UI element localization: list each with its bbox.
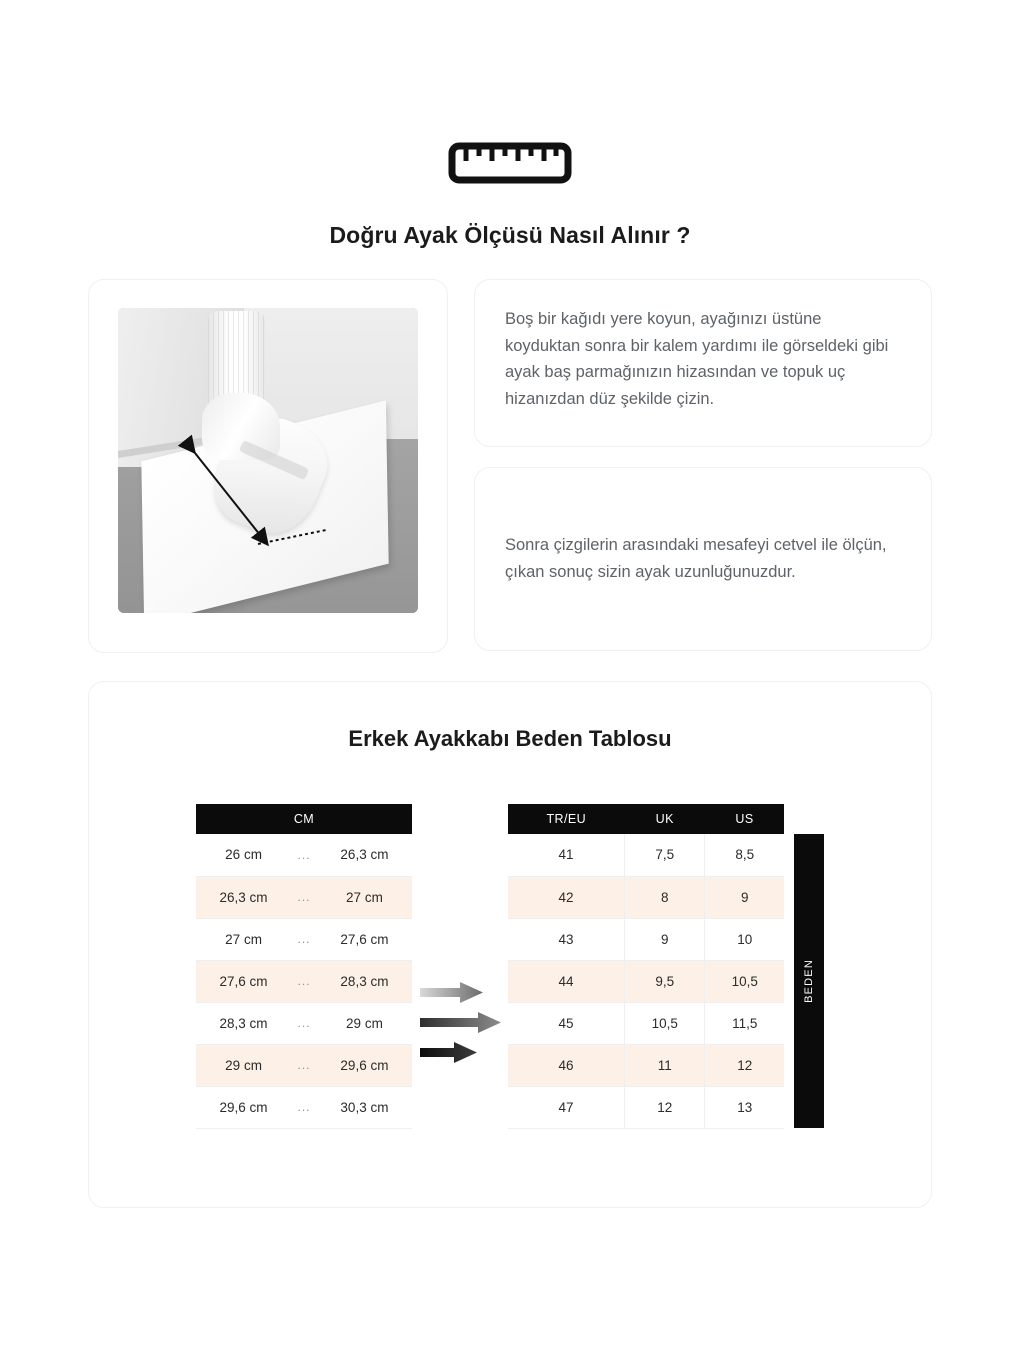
arrow-right-icon: [420, 1012, 502, 1033]
size-us: 12: [705, 1044, 784, 1086]
cm-header-cell: CM: [196, 804, 412, 834]
ruler-icon: [448, 141, 572, 185]
size-treu: 41: [508, 834, 625, 876]
table-row: 26 cm ... 26,3 cm: [196, 834, 412, 876]
table-row: 45 10,5 11,5: [508, 1002, 784, 1044]
size-table: TR/EU UK US 41 7,5 8,5 42 8 9 43: [508, 804, 784, 1129]
cm-header-row: CM: [196, 804, 412, 834]
size-uk: 9,5: [625, 960, 705, 1002]
cm-dots: ...: [291, 918, 317, 960]
cm-from: 29 cm: [196, 1044, 291, 1086]
size-treu: 43: [508, 918, 625, 960]
cm-table: CM 26 cm ... 26,3 cm 26,3 cm ... 27 cm 2…: [196, 804, 412, 1129]
instruction-column: Boş bir kağıdı yere koyun, ayağınızı üst…: [474, 279, 932, 651]
size-treu: 47: [508, 1086, 625, 1128]
size-treu: 46: [508, 1044, 625, 1086]
size-uk: 8: [625, 876, 705, 918]
size-uk: 11: [625, 1044, 705, 1086]
size-uk: 12: [625, 1086, 705, 1128]
cm-to: 26,3 cm: [317, 834, 412, 876]
table-row: 43 9 10: [508, 918, 784, 960]
table-row: 26,3 cm ... 27 cm: [196, 876, 412, 918]
size-table-card: Erkek Ayakkabı Beden Tablosu CM 26 cm ..…: [88, 681, 932, 1208]
table-row: 28,3 cm ... 29 cm: [196, 1002, 412, 1044]
size-us: 9: [705, 876, 784, 918]
ruler-icon-wrap: [0, 140, 1020, 186]
arrow-right-icon: [420, 1042, 478, 1063]
instruction-card-1: Boş bir kağıdı yere koyun, ayağınızı üst…: [474, 279, 932, 447]
table-row: 29,6 cm ... 30,3 cm: [196, 1086, 412, 1128]
table-row: 47 12 13: [508, 1086, 784, 1128]
table-row: 42 8 9: [508, 876, 784, 918]
size-header-treu: TR/EU: [508, 804, 625, 834]
table-row: 27 cm ... 27,6 cm: [196, 918, 412, 960]
arrow-right-icon: [420, 982, 484, 1003]
table-row: 29 cm ... 29,6 cm: [196, 1044, 412, 1086]
size-table-title: Erkek Ayakkabı Beden Tablosu: [89, 726, 931, 752]
size-table-body: 41 7,5 8,5 42 8 9 43 9 10 44 9,5 10,: [508, 834, 784, 1128]
cm-from: 27 cm: [196, 918, 291, 960]
table-row: 27,6 cm ... 28,3 cm: [196, 960, 412, 1002]
cm-from: 27,6 cm: [196, 960, 291, 1002]
heel-dashed-line: [118, 308, 418, 613]
cm-from: 26 cm: [196, 834, 291, 876]
cm-table-body: 26 cm ... 26,3 cm 26,3 cm ... 27 cm 27 c…: [196, 834, 412, 1128]
size-us: 11,5: [705, 1002, 784, 1044]
cm-dots: ...: [291, 1044, 317, 1086]
cm-to: 29,6 cm: [317, 1044, 412, 1086]
beden-label: BEDEN: [803, 959, 815, 1003]
cm-dots: ...: [291, 834, 317, 876]
size-treu: 42: [508, 876, 625, 918]
table-row: 46 11 12: [508, 1044, 784, 1086]
cm-dots: ...: [291, 876, 317, 918]
cm-to: 27,6 cm: [317, 918, 412, 960]
size-header-row: TR/EU UK US: [508, 804, 784, 834]
cm-table-head: CM: [196, 804, 412, 834]
cm-to: 28,3 cm: [317, 960, 412, 1002]
arrows-group: [412, 804, 508, 1129]
foot-measurement-photo: [118, 308, 418, 613]
size-us: 10,5: [705, 960, 784, 1002]
table-row: 44 9,5 10,5: [508, 960, 784, 1002]
size-uk: 10,5: [625, 1002, 705, 1044]
cm-to: 30,3 cm: [317, 1086, 412, 1128]
size-treu: 44: [508, 960, 625, 1002]
size-header-us: US: [705, 804, 784, 834]
cm-to: 27 cm: [317, 876, 412, 918]
cm-from: 26,3 cm: [196, 876, 291, 918]
cm-from: 28,3 cm: [196, 1002, 291, 1044]
tables-row: CM 26 cm ... 26,3 cm 26,3 cm ... 27 cm 2…: [89, 804, 931, 1129]
page-header: Doğru Ayak Ölçüsü Nasıl Alınır ?: [0, 0, 1020, 249]
cm-from: 29,6 cm: [196, 1086, 291, 1128]
size-table-head: TR/EU UK US: [508, 804, 784, 834]
size-uk: 7,5: [625, 834, 705, 876]
page-title: Doğru Ayak Ölçüsü Nasıl Alınır ?: [0, 222, 1020, 249]
size-us: 13: [705, 1086, 784, 1128]
instruction-card-2: Sonra çizgilerin arasındaki mesafeyi cet…: [474, 467, 932, 651]
size-us: 8,5: [705, 834, 784, 876]
beden-side-bar: BEDEN: [794, 834, 824, 1128]
photo-card: [88, 279, 448, 653]
cm-dots: ...: [291, 960, 317, 1002]
cm-dots: ...: [291, 1086, 317, 1128]
size-treu: 45: [508, 1002, 625, 1044]
size-header-uk: UK: [625, 804, 705, 834]
table-row: 41 7,5 8,5: [508, 834, 784, 876]
size-us: 10: [705, 918, 784, 960]
instruction-section: Boş bir kağıdı yere koyun, ayağınızı üst…: [0, 249, 1020, 653]
cm-to: 29 cm: [317, 1002, 412, 1044]
cm-dots: ...: [291, 1002, 317, 1044]
photo-scene: [118, 308, 418, 613]
size-uk: 9: [625, 918, 705, 960]
